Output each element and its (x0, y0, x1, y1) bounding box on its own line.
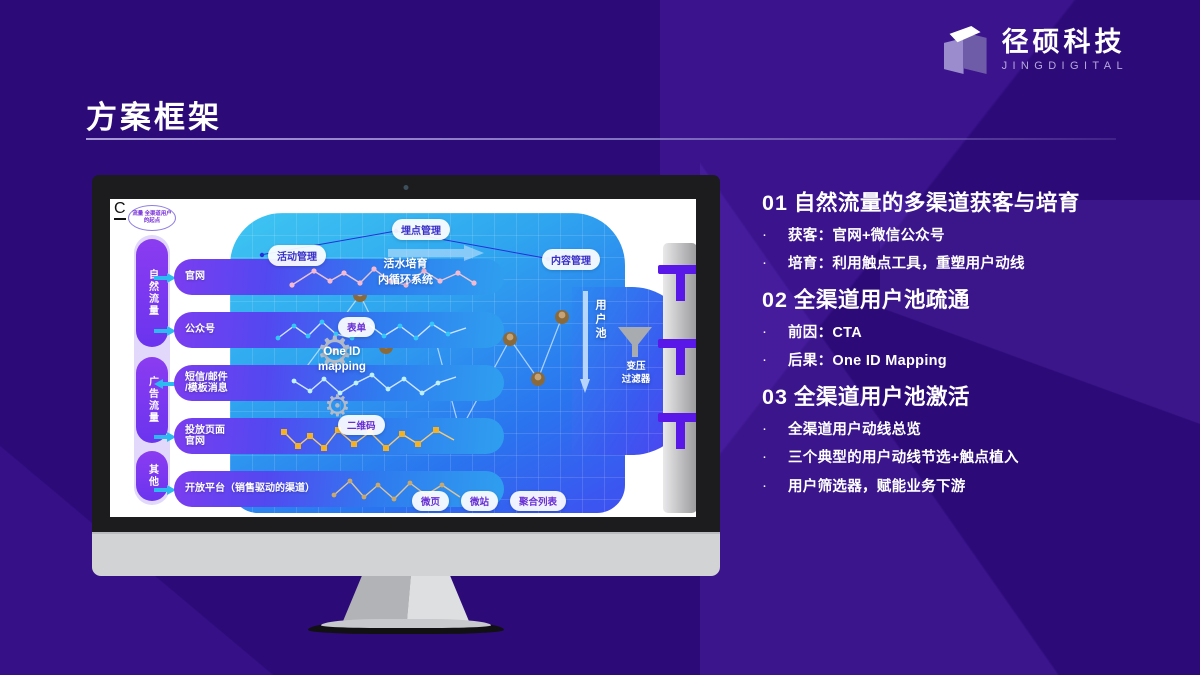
bullet-text: 前因：CTA (788, 324, 862, 342)
bullet-item: · 前因：CTA (762, 324, 1182, 342)
brand-logo: 径硕科技 JINGDIGITAL (944, 26, 1128, 74)
transformer-filter-label: 变压 过滤器 (608, 361, 664, 387)
logo-english-name: JINGDIGITAL (1002, 60, 1128, 72)
tag-aggregate-list[interactable]: 聚合列表 (510, 491, 566, 511)
source-arrow-1 (154, 273, 176, 283)
pool-down-arrow-icon (580, 291, 590, 395)
bullet-item: · 三个典型的用户动线节选+触点植入 (762, 449, 1182, 467)
pipe-stem-1 (676, 273, 685, 301)
touchpoint-qrcode[interactable]: 二维码 (338, 415, 385, 435)
bullet-marker: · (762, 352, 788, 369)
bullet-marker: · (762, 449, 788, 466)
channel-label: 投放页面 官网 (174, 425, 225, 448)
title-divider (86, 138, 1116, 140)
bullet-item: · 培育：利用触点工具，重塑用户动线 (762, 255, 1182, 273)
source-arrow-4 (154, 432, 176, 442)
tag-micro-page[interactable]: 微页 (412, 491, 449, 511)
channel-label: 短信/邮件 /模板消息 (174, 372, 228, 395)
bullet-item: · 全渠道用户动线总览 (762, 421, 1182, 439)
source-ad-traffic[interactable]: 广告流量 (136, 357, 168, 443)
section-bullets: · 前因：CTA · 后果：One ID Mapping (762, 324, 1182, 370)
section-bullets: · 获客：官网+微信公众号 · 培育：利用触点工具，重塑用户动线 (762, 227, 1182, 273)
channel-sparkline-1 (174, 259, 504, 295)
section-title: 全渠道用户池疏通 (794, 288, 970, 312)
screen-right-edge (696, 199, 702, 517)
bullet-marker: · (762, 421, 788, 438)
bullet-marker: · (762, 478, 788, 495)
one-id-mapping-label: One ID mapping (318, 345, 366, 375)
tag-micro-site[interactable]: 微站 (461, 491, 498, 511)
bullet-item: · 获客：官网+微信公众号 (762, 227, 1182, 245)
section-number: 02 (762, 288, 788, 312)
source-arrow-5 (154, 485, 176, 495)
bullet-text: 三个典型的用户动线节选+触点植入 (788, 449, 1019, 467)
pipe-stem-2 (676, 347, 685, 375)
monitor-bezel: C (92, 175, 720, 532)
pipe-stem-3 (676, 421, 685, 449)
section-number: 03 (762, 385, 788, 409)
monitor-chin (92, 532, 720, 576)
center-title: 活水培育 内循环系统 (378, 257, 433, 289)
bullet-marker: · (762, 324, 788, 341)
source-arrow-2 (154, 326, 176, 336)
framework-diagram: C (110, 199, 702, 517)
logo-chinese-name: 径硕科技 (1002, 28, 1126, 56)
logo-mark-icon (944, 26, 990, 74)
page-title: 方案框架 (86, 92, 222, 137)
section-heading: 03全渠道用户池激活 (762, 384, 1182, 412)
bullet-text: 后果：One ID Mapping (788, 352, 947, 370)
slide-root: 径硕科技 JINGDIGITAL 方案框架 C (0, 0, 1200, 675)
bullet-text: 用户筛选器，赋能业务下游 (788, 478, 966, 496)
section-03: 03全渠道用户池激活 · 全渠道用户动线总览 · 三个典型的用户动线节选+触点植… (762, 384, 1182, 495)
channel-label: 开放平台（销售驱动的渠道） (174, 483, 315, 495)
section-heading: 02全渠道用户池疏通 (762, 287, 1182, 315)
node-campaign-management[interactable]: 活动管理 (268, 245, 326, 266)
bullet-marker: · (762, 227, 788, 244)
funnel-icon (618, 327, 652, 357)
monitor-screen: C (110, 199, 702, 517)
bullet-item: · 后果：One ID Mapping (762, 352, 1182, 370)
logo-text: 径硕科技 JINGDIGITAL (1002, 28, 1128, 71)
user-pool-label: 用户池 (592, 299, 608, 341)
bullet-text: 全渠道用户动线总览 (788, 421, 921, 439)
section-title: 全渠道用户池激活 (794, 385, 970, 409)
source-arrow-3 (154, 379, 176, 389)
bullet-text: 培育：利用触点工具，重塑用户动线 (788, 255, 1025, 273)
section-bullets: · 全渠道用户动线总览 · 三个典型的用户动线节选+触点植入 · 用户筛选器，赋… (762, 421, 1182, 495)
origin-bubble: 流量 全渠道用户 的起点 (128, 205, 176, 231)
section-title: 自然流量的多渠道获客与培育 (794, 191, 1080, 215)
monitor-illustration: C (92, 175, 720, 635)
section-heading: 01自然流量的多渠道获客与培育 (762, 190, 1182, 218)
channel-row-website[interactable]: 官网 (174, 259, 504, 295)
section-02: 02全渠道用户池疏通 · 前因：CTA · 后果：One ID Mapping (762, 287, 1182, 370)
channel-row-open-platform[interactable]: 开放平台（销售驱动的渠道） (174, 471, 504, 507)
channel-label: 官网 (174, 271, 205, 283)
bullet-marker: · (762, 255, 788, 272)
bullet-text: 获客：官网+微信公众号 (788, 227, 945, 245)
logo-shape-left (944, 38, 964, 74)
bullet-item: · 用户筛选器，赋能业务下游 (762, 478, 1182, 496)
touchpoint-form[interactable]: 表单 (338, 317, 375, 337)
node-tracking-management[interactable]: 埋点管理 (392, 219, 450, 240)
section-01: 01自然流量的多渠道获客与培育 · 获客：官网+微信公众号 · 培育：利用触点工… (762, 190, 1182, 273)
monitor-stand-base (321, 619, 491, 628)
screen-corner-mark: C (114, 201, 126, 220)
content-panel: 01自然流量的多渠道获客与培育 · 获客：官网+微信公众号 · 培育：利用触点工… (762, 190, 1182, 510)
channel-label: 公众号 (174, 324, 215, 336)
section-number: 01 (762, 191, 788, 215)
webcam-icon (404, 185, 409, 190)
node-content-management[interactable]: 内容管理 (542, 249, 600, 270)
